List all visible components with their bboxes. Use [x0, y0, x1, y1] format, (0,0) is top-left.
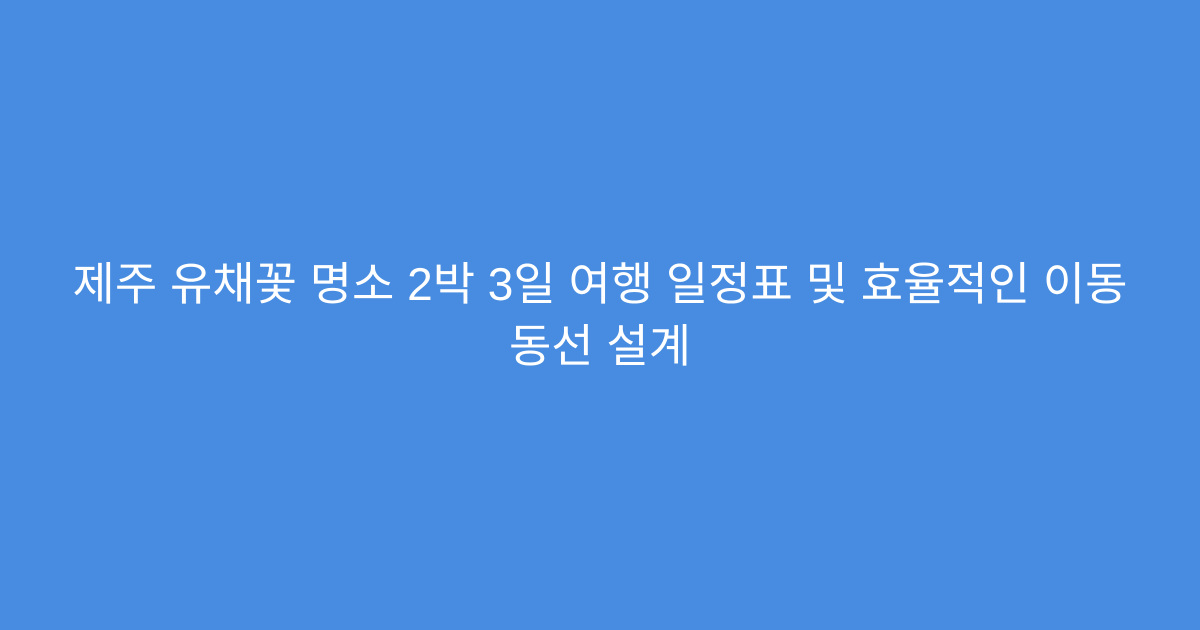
page-title: 제주 유채꽃 명소 2박 3일 여행 일정표 및 효율적인 이동 동선 설계: [60, 253, 1140, 377]
og-card: 제주 유채꽃 명소 2박 3일 여행 일정표 및 효율적인 이동 동선 설계: [0, 0, 1200, 630]
og-card-content: 제주 유채꽃 명소 2박 3일 여행 일정표 및 효율적인 이동 동선 설계: [0, 253, 1200, 377]
